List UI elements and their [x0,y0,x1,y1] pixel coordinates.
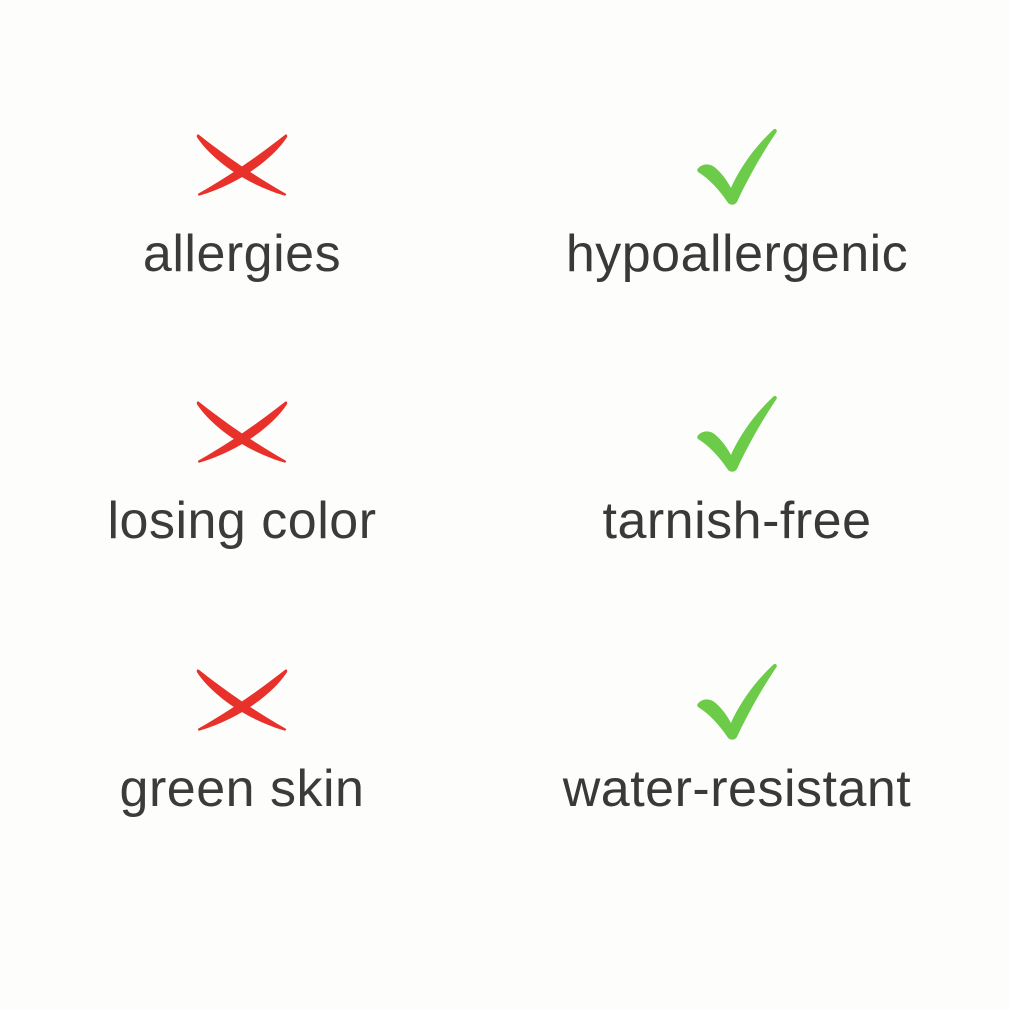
benefits-comparison-board: allergies hypoallergenic losing color [0,0,1010,1010]
feature-label-negative-2: losing color [107,491,376,552]
feature-cell-negative-2: losing color [12,379,472,552]
feature-cell-positive-1: hypoallergenic [507,112,967,285]
feature-label-positive-1: hypoallergenic [566,224,908,285]
feature-cell-negative-3: green skin [12,647,472,820]
feature-grid: allergies hypoallergenic losing color [0,0,1010,1010]
check-mark-icon [677,647,797,751]
cross-mark-icon [182,379,302,483]
feature-label-positive-3: water-resistant [563,759,912,820]
feature-label-negative-1: allergies [143,224,341,285]
feature-label-negative-3: green skin [120,759,365,820]
feature-cell-negative-1: allergies [12,112,472,285]
feature-cell-positive-2: tarnish-free [507,379,967,552]
check-mark-icon [677,379,797,483]
feature-cell-positive-3: water-resistant [507,647,967,820]
cross-mark-icon [182,112,302,216]
cross-mark-icon [182,647,302,751]
feature-label-positive-2: tarnish-free [603,491,872,552]
check-mark-icon [677,112,797,216]
